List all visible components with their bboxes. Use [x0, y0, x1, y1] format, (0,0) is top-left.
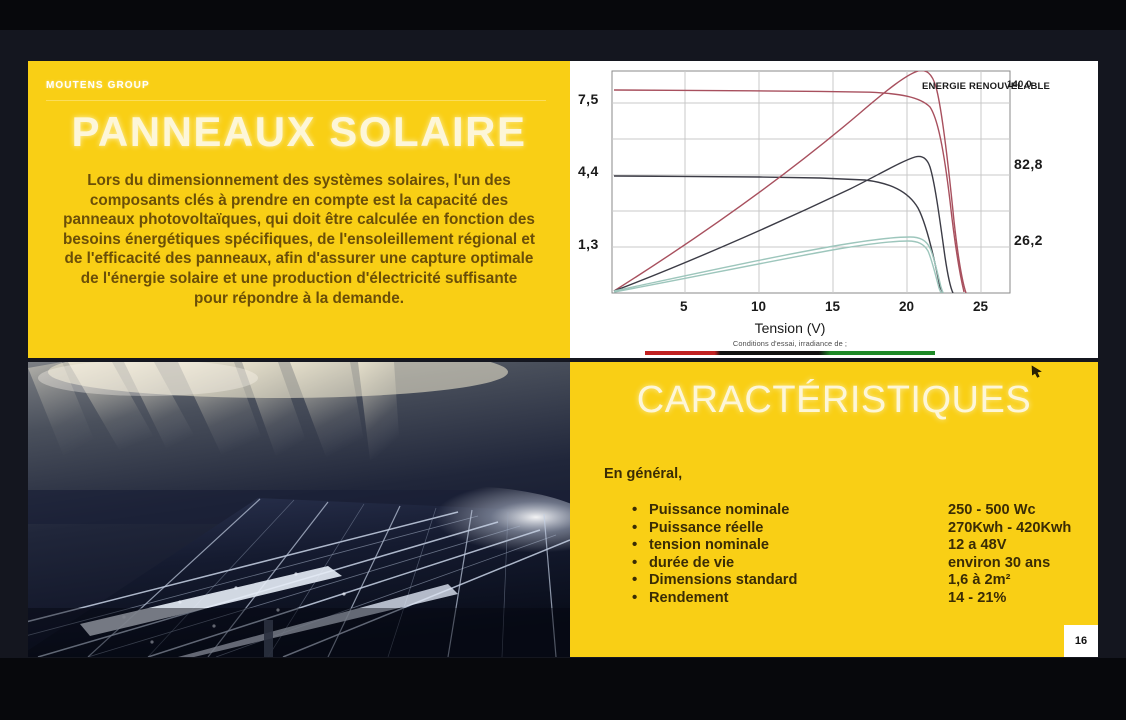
energie-renouvelable-overlay: ENERGIE RENOUVELABLE	[922, 81, 1050, 92]
presentation-slide: MOUTENS GROUP PANNEAUX SOLAIRE Lors du d…	[28, 61, 1098, 657]
list-item-value: 250 - 500 Wc	[948, 502, 1071, 520]
specs-intro: En général,	[604, 466, 682, 482]
list-item: durée de vie	[632, 555, 932, 573]
title-panel: MOUTENS GROUP PANNEAUX SOLAIRE Lors du d…	[28, 61, 570, 358]
photo-illustration	[28, 362, 570, 657]
list-item-value: 14 - 21%	[948, 590, 1071, 608]
y-tick-right-1: 26,2	[1014, 232, 1043, 248]
specs-value-list: 250 - 500 Wc 270Kwh - 420Kwh 12 a 48V en…	[948, 502, 1071, 607]
x-tick-25: 25	[973, 299, 988, 314]
page-number-badge: 16	[1064, 625, 1098, 657]
slide-body-text: Lors du dimensionnement des systèmes sol…	[62, 171, 536, 308]
y-tick-right-2: 82,8	[1014, 156, 1043, 172]
list-item: Puissance réelle	[632, 520, 932, 538]
mouse-cursor-icon	[1029, 364, 1045, 380]
y-tick-left-1: 1,3	[578, 236, 599, 252]
specs-label-list: Puissance nominale Puissance réelle tens…	[632, 502, 932, 607]
list-item-value: environ 30 ans	[948, 555, 1071, 573]
y-tick-left-3: 7,5	[578, 91, 599, 107]
legend-color-strip	[645, 351, 935, 355]
y-tick-left-2: 4,4	[578, 163, 599, 179]
x-tick-10: 10	[751, 299, 766, 314]
chart-panel: 7,5 4,4 1,3 82,8 26,2 140,0 ENERGIE RENO…	[570, 61, 1098, 358]
page-title: PANNEAUX SOLAIRE	[28, 108, 570, 156]
list-item-value: 1,6 à 2m²	[948, 572, 1071, 590]
list-item: tension nominale	[632, 537, 932, 555]
x-axis-title: Tension (V)	[570, 320, 1010, 336]
brand-divider	[46, 100, 546, 101]
chart-stage: 7,5 4,4 1,3 82,8 26,2 140,0 ENERGIE RENO…	[570, 61, 1098, 358]
brand-label: MOUTENS GROUP	[46, 80, 150, 91]
list-item-value: 270Kwh - 420Kwh	[948, 520, 1071, 538]
list-item: Rendement	[632, 590, 932, 608]
x-tick-20: 20	[899, 299, 914, 314]
video-frame: MOUTENS GROUP PANNEAUX SOLAIRE Lors du d…	[0, 0, 1126, 720]
list-item: Puissance nominale	[632, 502, 932, 520]
specs-panel: CARACTÉRISTIQUES En général, Puissance n…	[570, 362, 1098, 657]
list-item: Dimensions standard	[632, 572, 932, 590]
x-tick-15: 15	[825, 299, 840, 314]
list-item-value: 12 a 48V	[948, 537, 1071, 555]
letterbox-top	[0, 0, 1126, 30]
solar-panel-photo	[28, 362, 570, 657]
letterbox-bottom	[0, 658, 1126, 720]
x-tick-5: 5	[680, 299, 688, 314]
chart-caption: Conditions d'essai, irradiance de ;	[570, 339, 1010, 348]
specs-title: CARACTÉRISTIQUES	[570, 379, 1098, 422]
